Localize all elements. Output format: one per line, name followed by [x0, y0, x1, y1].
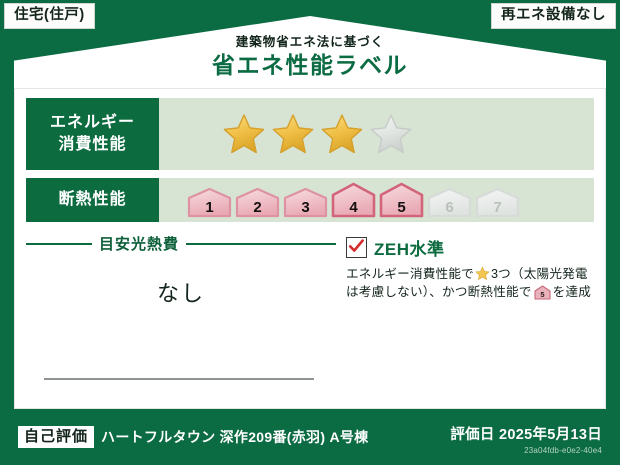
header-title-block: 建築物省エネ法に基づく 省エネ性能ラベル — [0, 36, 620, 80]
insulation-level-number: 6 — [427, 200, 472, 215]
insulation-level-1: 1 — [187, 187, 232, 218]
star-filled-icon — [271, 113, 315, 155]
lower-section: 目安光熱費 なし ZEH水準 エネルギー消費性能で3つ（太陽光発電は考慮しな — [26, 229, 594, 400]
row-insulation-performance: 断熱性能 1234567 — [26, 178, 594, 222]
zeh-title: ZEH水準 — [374, 235, 445, 260]
insulation-level-scale: 1234567 — [187, 182, 520, 218]
row-energy-performance: エネルギー 消費性能 — [26, 98, 594, 170]
zeh-heading: ZEH水準 — [346, 235, 594, 260]
main-panel: エネルギー 消費性能 断熱性能 1234567 目安光熱費 — [14, 88, 606, 409]
zeh-block: ZEH水準 エネルギー消費性能で3つ（太陽光発電は考慮しない）、かつ断熱性能で5… — [336, 229, 594, 400]
zeh-checkbox[interactable] — [346, 237, 367, 258]
zeh-desc-part2: 3つ（太陽光発電 — [491, 267, 588, 281]
footer-left: 自己評価 ハートフルタウン 深作209番(赤羽) A号棟 — [18, 426, 369, 448]
energy-performance-label: 住宅(住戸) 再エネ設備なし 建築物省エネ法に基づく 省エネ性能ラベル エネルギ… — [0, 0, 620, 465]
footer-right: 評価日 2025年5月13日 23a04fdb-e0e2-40e4 — [450, 423, 602, 455]
badge-building-type: 住宅(住戸) — [4, 3, 95, 29]
insulation-level-number: 3 — [283, 200, 328, 215]
zeh-desc-part1: エネルギー消費性能で — [346, 267, 474, 281]
evaluation-date: 評価日 2025年5月13日 — [450, 423, 602, 444]
star-empty-icon — [369, 113, 413, 155]
inline-house-icon: 5 — [534, 285, 551, 300]
row-energy-label-line2: 消費性能 — [58, 136, 126, 153]
utility-cost-heading: 目安光熱費 — [26, 233, 336, 254]
heading-rule-right — [186, 243, 336, 245]
insulation-level-number: 4 — [331, 200, 376, 215]
row-insulation-label: 断熱性能 — [26, 178, 159, 222]
insulation-level-number: 7 — [475, 200, 520, 215]
zeh-desc-part3: は考慮しない）、かつ断熱性能で — [346, 285, 532, 299]
insulation-level-3: 3 — [283, 187, 328, 218]
self-evaluation-badge: 自己評価 — [18, 426, 94, 448]
row-insulation-value: 1234567 — [159, 178, 594, 222]
page-title: 省エネ性能ラベル — [0, 51, 620, 80]
row-energy-value — [159, 98, 594, 170]
evaluation-id: 23a04fdb-e0e2-40e4 — [450, 446, 602, 455]
utility-cost-title: 目安光熱費 — [99, 233, 179, 254]
insulation-level-5: 5 — [379, 182, 424, 218]
zeh-desc-part4: を達成 — [553, 285, 591, 299]
star-filled-icon — [222, 113, 266, 155]
row-energy-label: エネルギー 消費性能 — [26, 98, 159, 170]
footer: 自己評価 ハートフルタウン 深作209番(赤羽) A号棟 評価日 2025年5月… — [14, 415, 606, 459]
svg-text:5: 5 — [540, 290, 544, 299]
insulation-level-number: 5 — [379, 200, 424, 215]
insulation-level-6: 6 — [427, 187, 472, 218]
heading-rule-left — [26, 243, 92, 245]
utility-cost-underline — [44, 378, 314, 380]
property-name: ハートフルタウン 深作209番(赤羽) A号棟 — [101, 427, 368, 447]
utility-cost-value: なし — [26, 276, 336, 308]
insulation-level-number: 1 — [187, 200, 232, 215]
header-subtitle: 建築物省エネ法に基づく — [0, 36, 620, 50]
badge-renewable-equipment: 再エネ設備なし — [491, 3, 616, 29]
check-icon — [348, 238, 365, 255]
insulation-level-number: 2 — [235, 200, 280, 215]
row-energy-label-line1: エネルギー — [50, 114, 135, 131]
insulation-level-7: 7 — [475, 187, 520, 218]
star-filled-icon — [320, 113, 364, 155]
insulation-level-2: 2 — [235, 187, 280, 218]
zeh-description: エネルギー消費性能で3つ（太陽光発電は考慮しない）、かつ断熱性能で5を達成 — [346, 265, 594, 302]
insulation-level-4: 4 — [331, 182, 376, 218]
star-rating — [222, 113, 413, 155]
inline-star-icon — [475, 266, 490, 281]
utility-cost-block: 目安光熱費 なし — [26, 229, 336, 400]
